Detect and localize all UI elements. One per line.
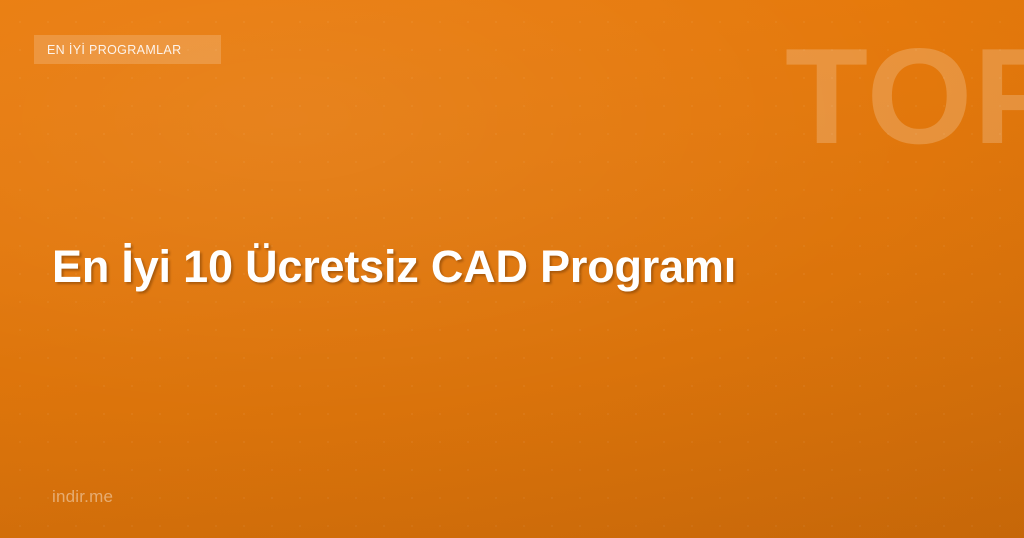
top-watermark-text: TOP xyxy=(785,28,1024,164)
category-badge[interactable]: EN İYİ PROGRAMLAR xyxy=(34,35,221,64)
site-watermark: indir.me xyxy=(52,487,113,507)
category-badge-label: EN İYİ PROGRAMLAR xyxy=(47,43,181,57)
page-title: En İyi 10 Ücretsiz CAD Programı xyxy=(52,240,736,293)
article-hero-banner: TOP EN İYİ PROGRAMLAR En İyi 10 Ücretsiz… xyxy=(0,0,1024,538)
